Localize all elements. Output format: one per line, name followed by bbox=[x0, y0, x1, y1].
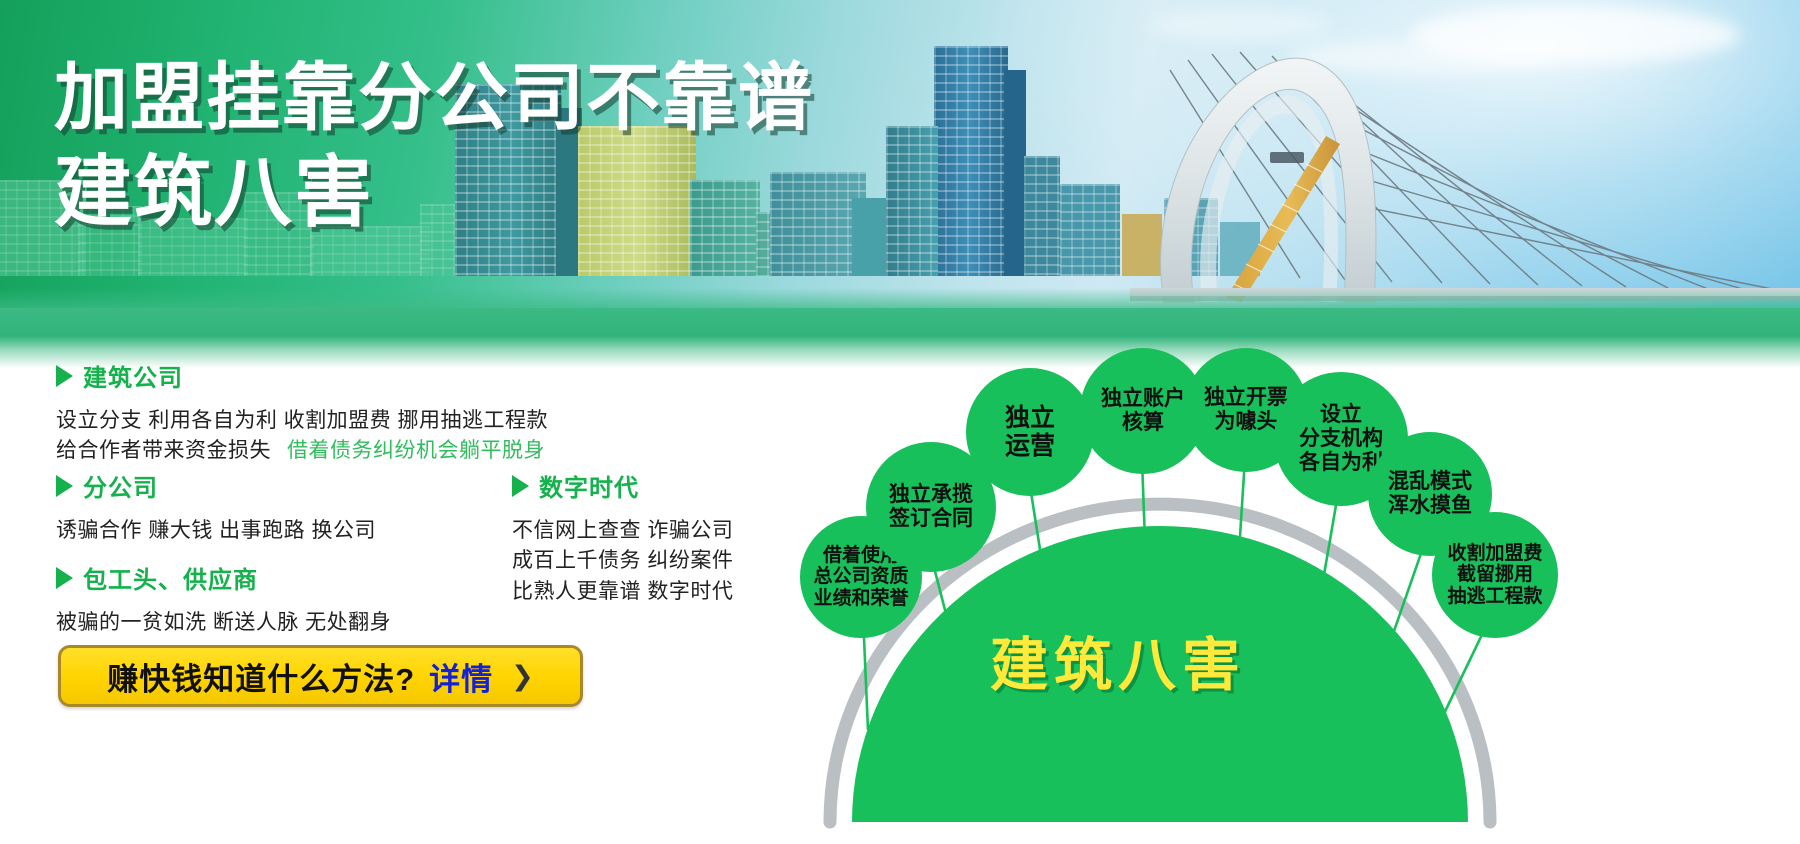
bubble-line: 独立开票 bbox=[1204, 386, 1288, 410]
section-title: 建筑公司 bbox=[83, 358, 183, 393]
section-line: 设立分支 利用各自为利 收割加盟费 挪用抽逃工程款 bbox=[56, 406, 548, 436]
section-digital-era: 数字时代 不信网上查查 诈骗公司 成百上千债务 纠纷案件 比熟人更靠谱 数字时代 bbox=[512, 468, 733, 607]
bubble-3[interactable]: 独立 运营 bbox=[966, 368, 1094, 496]
triangle-bullet-icon bbox=[56, 365, 73, 387]
section-line-text: 比熟人更靠谱 数字时代 bbox=[512, 580, 733, 603]
section-contractor-supplier: 包工头、供应商 被骗的一贫如洗 断送人脉 无处翻身 bbox=[56, 560, 391, 638]
bubble-line: 核算 bbox=[1122, 411, 1164, 435]
section-title: 包工头、供应商 bbox=[83, 560, 258, 595]
section-line-text: 诱骗合作 赚大钱 出事跑路 换公司 bbox=[56, 519, 376, 542]
section-line-text: 给合作者带来资金损失 bbox=[56, 439, 271, 462]
section-header: 建筑公司 bbox=[56, 358, 548, 393]
bubble-line: 独立承揽 bbox=[889, 483, 973, 507]
left-content: 建筑公司 设立分支 利用各自为利 收割加盟费 挪用抽逃工程款 给合作者带来资金损… bbox=[0, 368, 880, 844]
bubble-line: 运营 bbox=[1005, 432, 1055, 461]
section-header: 数字时代 bbox=[512, 468, 733, 503]
bubble-line: 分支机构 bbox=[1299, 427, 1383, 451]
bubble-line: 收割加盟费 bbox=[1447, 543, 1542, 565]
section-line: 不信网上查查 诈骗公司 bbox=[512, 516, 733, 546]
arch-center-label: 建筑八害 bbox=[990, 618, 1246, 702]
section-body: 设立分支 利用各自为利 收割加盟费 挪用抽逃工程款 给合作者带来资金损失借着债务… bbox=[56, 406, 548, 467]
triangle-bullet-icon bbox=[512, 475, 529, 497]
bubble-line: 为噱头 bbox=[1215, 410, 1278, 434]
bubble-line: 总公司资质 bbox=[813, 566, 908, 588]
headline-line-2: 建筑八害 bbox=[54, 153, 1014, 233]
bubble-line: 浑水摸鱼 bbox=[1388, 494, 1472, 518]
section-header: 分公司 bbox=[56, 468, 376, 503]
cta-label: 赚快钱知道什么方法? bbox=[107, 654, 415, 699]
section-body: 诱骗合作 赚大钱 出事跑路 换公司 bbox=[56, 516, 376, 546]
bubble-line: 签订合同 bbox=[889, 507, 973, 531]
poster-root: 加盟挂靠分公司不靠谱 建筑八害 建筑公司 设立分支 利用各自为利 收割加盟费 挪… bbox=[0, 0, 1800, 844]
bubble-line: 独立账户 bbox=[1101, 387, 1185, 411]
section-branch-company: 分公司 诱骗合作 赚大钱 出事跑路 换公司 bbox=[56, 468, 376, 546]
headline-line-1: 加盟挂靠分公司不靠谱 bbox=[54, 60, 1014, 135]
section-line: 比熟人更靠谱 数字时代 bbox=[512, 577, 733, 607]
section-header: 包工头、供应商 bbox=[56, 560, 391, 595]
bubble-line: 各自为利 bbox=[1299, 451, 1383, 475]
bubble-8[interactable]: 收割加盟费 截留挪用 抽逃工程款 bbox=[1432, 512, 1558, 638]
section-line: 成百上千债务 纠纷案件 bbox=[512, 546, 733, 576]
chevron-right-icon: ❯ bbox=[511, 661, 534, 692]
cta-link-label[interactable]: 详情 bbox=[429, 654, 493, 699]
triangle-bullet-icon bbox=[56, 567, 73, 589]
triangle-bullet-icon bbox=[56, 475, 73, 497]
bridge-illustration bbox=[1130, 40, 1800, 330]
section-title: 数字时代 bbox=[539, 468, 639, 503]
section-line-text: 设立分支 利用各自为利 收割加盟费 挪用抽逃工程款 bbox=[56, 409, 548, 432]
bubble-line: 业绩和荣誉 bbox=[813, 588, 908, 610]
section-line-highlight: 借着债务纠纷机会躺平脱身 bbox=[287, 439, 545, 462]
cloud-decoration bbox=[1150, 10, 1330, 40]
arch-bubble-diagram: 借着使用 总公司资质 业绩和荣誉 独立承揽 签订合同 独立 运营 独立账户 核算… bbox=[790, 330, 1800, 844]
bubble-line: 抽逃工程款 bbox=[1447, 586, 1542, 608]
section-body: 不信网上查查 诈骗公司 成百上千债务 纠纷案件 比熟人更靠谱 数字时代 bbox=[512, 516, 733, 607]
section-line-text: 成百上千债务 纠纷案件 bbox=[512, 549, 733, 572]
section-line: 给合作者带来资金损失借着债务纠纷机会躺平脱身 bbox=[56, 436, 548, 466]
section-title: 分公司 bbox=[83, 468, 158, 503]
section-line-text: 不信网上查查 诈骗公司 bbox=[512, 519, 733, 542]
cta-button[interactable]: 赚快钱知道什么方法? 详情 ❯ bbox=[58, 645, 583, 707]
section-line: 被骗的一贫如洗 断送人脉 无处翻身 bbox=[56, 608, 391, 638]
bubble-line: 混乱模式 bbox=[1388, 470, 1472, 494]
section-line-text: 被骗的一贫如洗 断送人脉 无处翻身 bbox=[56, 611, 391, 634]
headline: 加盟挂靠分公司不靠谱 建筑八害 bbox=[54, 60, 1014, 233]
bubble-line: 设立 bbox=[1320, 403, 1362, 427]
section-line: 诱骗合作 赚大钱 出事跑路 换公司 bbox=[56, 516, 376, 546]
hero-banner: 加盟挂靠分公司不靠谱 建筑八害 bbox=[0, 0, 1800, 368]
section-building-company: 建筑公司 设立分支 利用各自为利 收割加盟费 挪用抽逃工程款 给合作者带来资金损… bbox=[56, 358, 548, 467]
bubble-line: 截留挪用 bbox=[1457, 564, 1533, 586]
bubble-line: 独立 bbox=[1005, 404, 1055, 433]
section-body: 被骗的一贫如洗 断送人脉 无处翻身 bbox=[56, 608, 391, 638]
